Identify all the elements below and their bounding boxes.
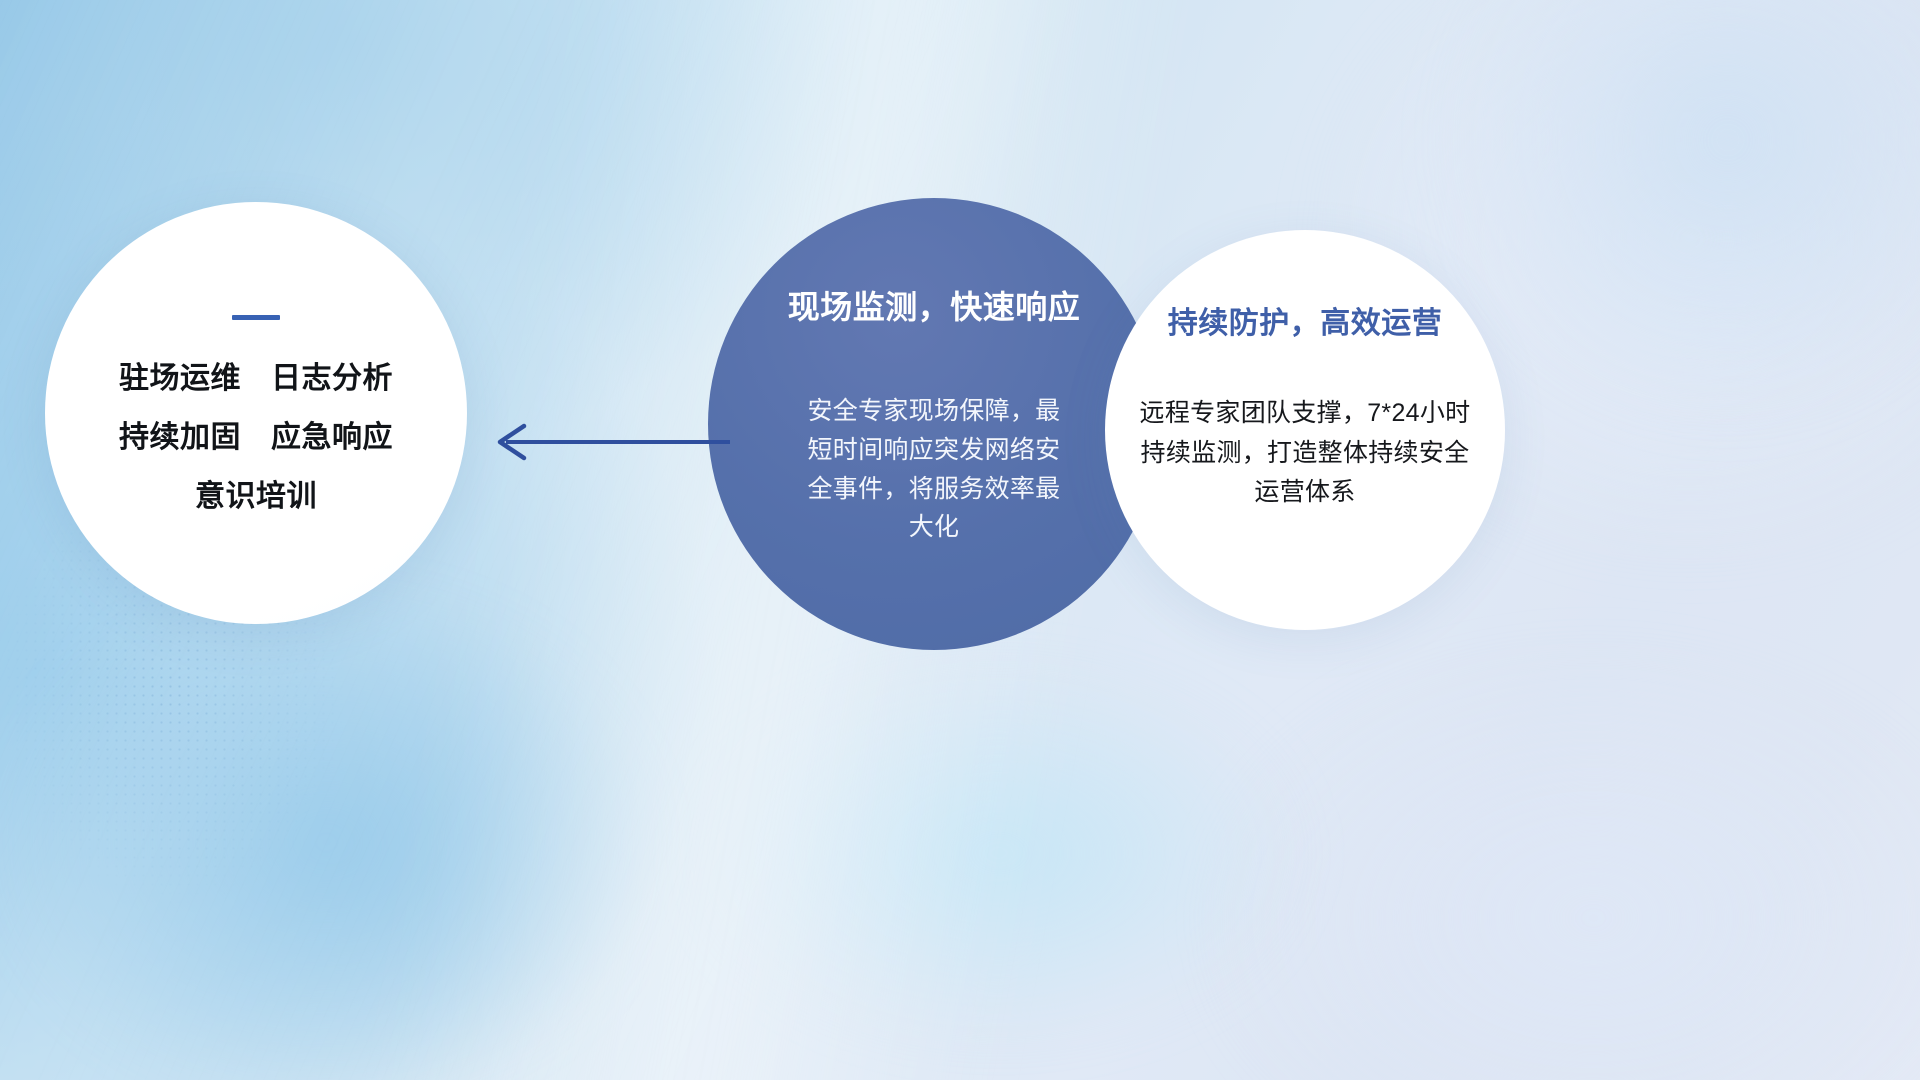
- keyword-row: 驻场运维 日志分析: [119, 364, 393, 394]
- keyword-item: 驻场运维: [119, 364, 241, 394]
- divider-dash: [232, 315, 280, 320]
- continuous-protection-circle: 持续防护，高效运营 远程专家团队支撑，7*24小时持续监测，打造整体持续安全运营…: [1105, 230, 1505, 630]
- continuous-protection-title: 持续防护，高效运营: [1168, 298, 1443, 342]
- keyword-item: 意识培训: [195, 482, 317, 512]
- flow-arrow-icon: [480, 412, 730, 472]
- keyword-row: 持续加固 应急响应: [119, 423, 393, 453]
- keyword-item: 应急响应: [271, 423, 393, 453]
- onsite-monitoring-title: 现场监测，快速响应: [788, 282, 1081, 328]
- keyword-row: 意识培训: [195, 482, 317, 512]
- keyword-item: 日志分析: [271, 364, 393, 394]
- continuous-protection-body: 远程专家团队支撑，7*24小时持续监测，打造整体持续安全运营体系: [1129, 394, 1481, 513]
- onsite-monitoring-circle: 现场监测，快速响应 安全专家现场保障，最短时间响应突发网络安全事件，将服务效率最…: [708, 198, 1160, 650]
- keyword-circle: 驻场运维 日志分析 持续加固 应急响应 意识培训: [45, 202, 467, 624]
- keyword-item: 持续加固: [119, 423, 241, 453]
- diagram-stage: 驻场运维 日志分析 持续加固 应急响应 意识培训 现场监测，快速响应 安全专家现…: [0, 0, 1920, 1080]
- onsite-monitoring-body: 安全专家现场保障，最短时间响应突发网络安全事件，将服务效率最大化: [798, 392, 1070, 547]
